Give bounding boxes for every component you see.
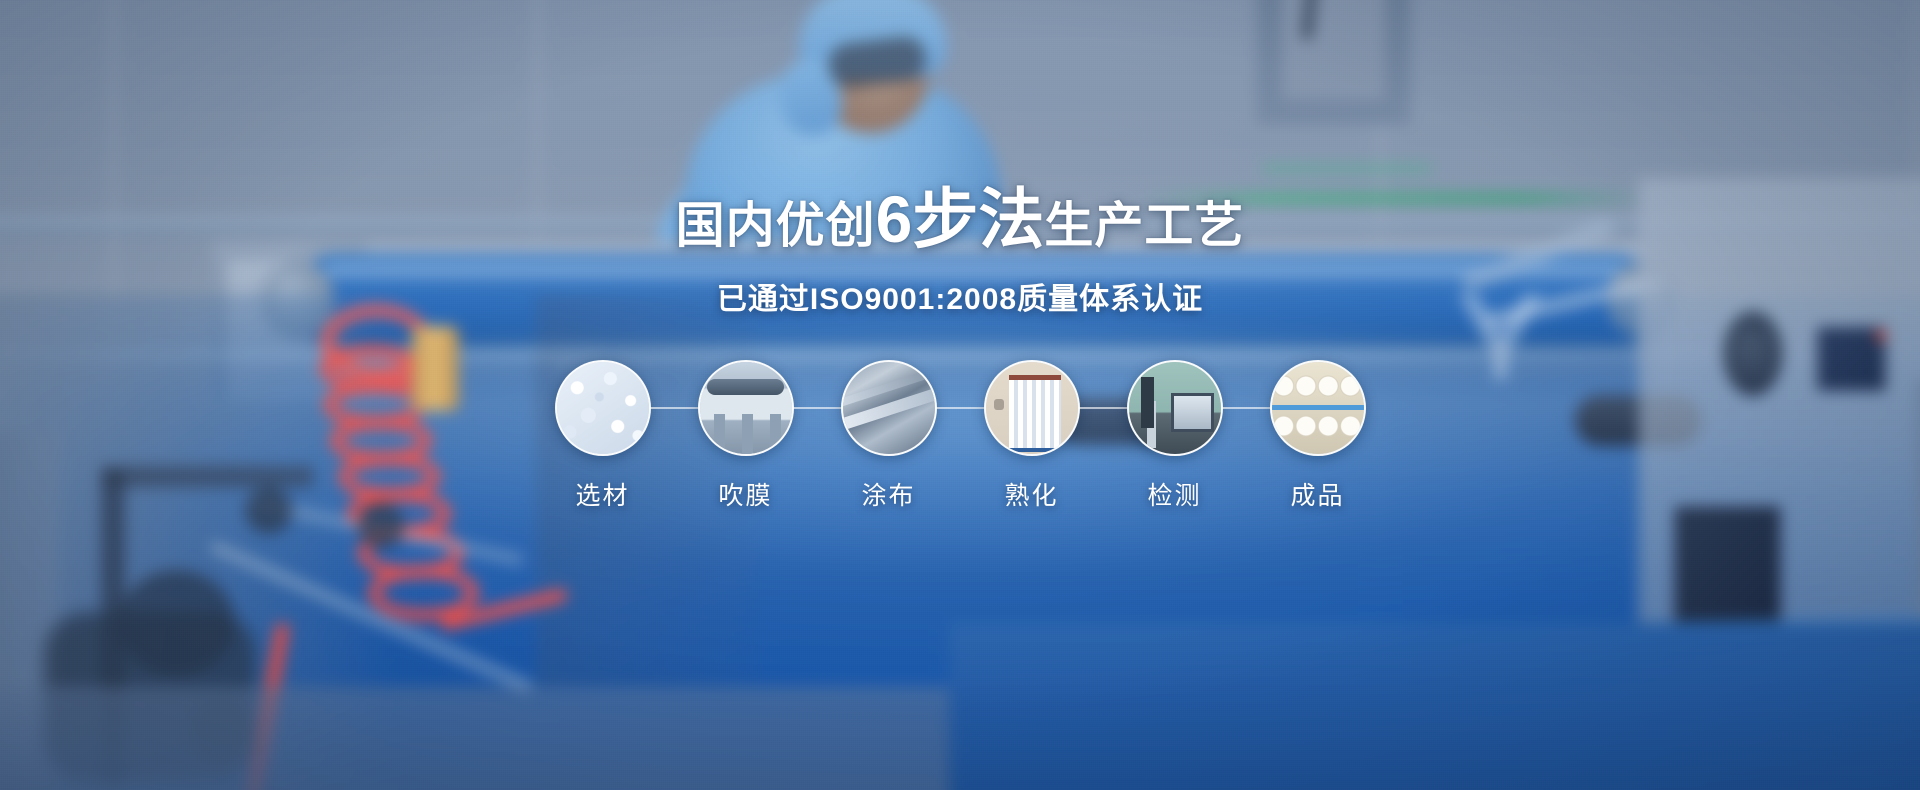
- step-thumbnail-selection[interactable]: [555, 360, 651, 456]
- banner-content: 国内优创6步法生产工艺 已通过ISO9001:2008质量体系认证 选材 吹膜: [0, 0, 1920, 790]
- process-step-5[interactable]: 检测: [1103, 360, 1246, 512]
- process-step-6[interactable]: 成品: [1246, 360, 1389, 512]
- step-label: 检测: [1147, 476, 1201, 512]
- step-thumbnail-coating[interactable]: [841, 360, 937, 456]
- finished-film-rolls-icon: [1272, 362, 1364, 454]
- process-steps: 选材 吹膜 涂布 熟化: [531, 360, 1389, 512]
- process-step-2[interactable]: 吹膜: [674, 360, 817, 512]
- step-label: 成品: [1290, 476, 1344, 512]
- headline-prefix: 国内优创: [676, 199, 876, 253]
- process-step-3[interactable]: 涂布: [817, 360, 960, 512]
- step-label: 选材: [575, 476, 629, 512]
- coating-machine-icon: [843, 362, 935, 454]
- banner-headline: 国内优创6步法生产工艺: [676, 186, 1245, 252]
- step-label: 涂布: [861, 476, 915, 512]
- step-thumbnail-finished[interactable]: [1270, 360, 1366, 456]
- curing-room-icon: [986, 362, 1078, 454]
- banner-subheadline: 已通过ISO9001:2008质量体系认证: [717, 274, 1203, 318]
- plastic-pellets-icon: [557, 362, 649, 454]
- step-thumbnail-curing[interactable]: [984, 360, 1080, 456]
- process-banner: 国内优创6步法生产工艺 已通过ISO9001:2008质量体系认证 选材 吹膜: [0, 0, 1920, 790]
- step-thumbnail-film-blowing[interactable]: [698, 360, 794, 456]
- film-blowing-machine-icon: [700, 362, 792, 454]
- testing-equipment-icon: [1129, 362, 1221, 454]
- step-label: 吹膜: [718, 476, 772, 512]
- step-thumbnail-testing[interactable]: [1127, 360, 1223, 456]
- headline-suffix: 生产工艺: [1044, 199, 1244, 253]
- process-step-4[interactable]: 熟化: [960, 360, 1103, 512]
- headline-emphasis: 6步法: [876, 182, 1045, 256]
- step-label: 熟化: [1004, 476, 1058, 512]
- process-step-1[interactable]: 选材: [531, 360, 674, 512]
- blue-film-stripe: [1272, 405, 1364, 410]
